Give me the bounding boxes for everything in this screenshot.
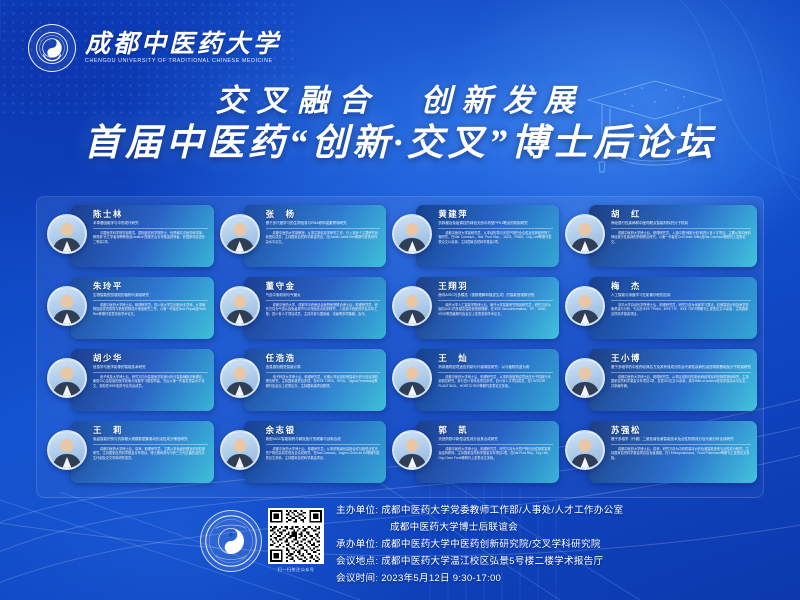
speaker-topic: 人工智能与深度学习在影像诊断的应用	[611, 293, 751, 300]
avatar	[47, 286, 87, 326]
speaker-topic: 信息学与医学影像的智能技术研究	[93, 365, 208, 372]
speaker-topic: 面向AIGC与多模态（视频理解和描述生成）的智能音视频识别	[438, 293, 553, 300]
speaker-card[interactable]: 胡 红 神经退行性疾病和中医药靶点智能材料的分子机制 成都中医药大学博士后，助理…	[561, 205, 757, 273]
speaker-name: 张 杨	[266, 210, 381, 219]
avatar	[565, 214, 605, 254]
qr-code-icon[interactable]	[268, 508, 324, 564]
qr-caption: 扫一扫关注公众号	[268, 567, 324, 573]
speaker-card[interactable]: 董守金 气血平衡机制与气管炎 成都中医药大学，成都市中西医结合医院医院联合博士后…	[216, 277, 387, 345]
avatar	[220, 214, 260, 254]
speaker-card[interactable]: 王 灿 药用植物逆境适应机制与代谢调控研究：以与植物抗逆为例 成都中医药大学博士…	[388, 349, 559, 417]
speaker-name: 梅 杰	[611, 282, 751, 291]
speaker-card[interactable]: 张 杨 基于多尺度学习的生物信息与RNA修饰富集预测研究 成都中医药大学副教授，…	[216, 205, 387, 273]
organizer-line: 承办单位: 成都中医药大学中医药创新研究院/交叉学科研究院	[336, 538, 756, 552]
speaker-bio: 中国医学科学院学部委员，国际欧亚科学院院士，世界著名中医药科学家，教育部“长江学…	[93, 231, 208, 245]
speaker-card[interactable]: 王小博 基于多组学的中医药经典名方及其有效成分防治代谢性疾病的活性物质基础及分子…	[561, 349, 757, 417]
speaker-name: 余志银	[266, 426, 381, 435]
avatar	[220, 430, 260, 470]
poster-footer: 扫一扫关注公众号 主办单位: 成都中医药大学党委教师工作部/人事处/人才工作办公…	[0, 496, 800, 600]
university-logo: 成都中医药大学 CHENGDU UNIVERSITY OF TRADITIONA…	[28, 24, 281, 72]
speaker-topic: 神经退行性疾病和中医药靶点智能材料的分子机制	[611, 221, 751, 228]
title-line-2: 首届中医药“创新·交叉”博士后论坛	[0, 124, 800, 165]
speaker-name: 董守金	[266, 282, 381, 291]
speaker-bio: 成都中医药大学副教授，从事生物信息学研究工作，已入选多个主要研究创新团队成员，主…	[266, 231, 381, 245]
speaker-bio: 成都中医药大学博士后，助理研究员，从事药物绿色智能合成与新型活性天然产物的高效发…	[266, 447, 381, 461]
avatar	[47, 430, 87, 470]
venue-line: 会议地点: 成都中医药大学温江校区弘景5号楼二楼学术报告厅	[336, 555, 756, 569]
speaker-topic: 抗肿瘤及免疫调控的绿色天然中药型PPK1靶点的机制研究	[438, 221, 553, 228]
speaker-topic: 天然药物中新型活性成分及其合成研究	[438, 437, 553, 444]
speaker-card[interactable]: 梅 杰 人工智能与深度学习在影像诊断的应用 清华大学自动化学院博士后，助理研究员…	[561, 277, 757, 345]
speaker-topic: 免疫智能识别与抗肿瘤大规模数据集驱动的活性成分筛选研究	[93, 437, 208, 444]
speaker-name: 苏强松	[611, 426, 751, 435]
speakers-panel: 陈士林 本草基因组学与中药现代研究 中国医学科学院学部委员，国际欧亚科学院院士，…	[36, 196, 764, 498]
speaker-name: 陈士林	[93, 210, 208, 219]
poster-title: 交叉融合 创新发展 首届中医药“创新·交叉”博士后论坛	[0, 84, 800, 165]
speaker-name: 郭 凯	[438, 426, 553, 435]
speaker-bio: 成都中医药大学博士后，助理研究员，四川省大学生创新创业导师，从事植物智能视觉感知…	[93, 303, 208, 317]
university-name-cn: 成都中医药大学	[85, 32, 281, 57]
speaker-name: 王小博	[611, 354, 751, 363]
speaker-name: 任浩浩	[266, 354, 381, 363]
speaker-card[interactable]: 苏强松 基于多组学（代谢）二维色谱色谱智能技术及活性物质成分及代谢分析合成研究 …	[561, 421, 757, 489]
taiji-hands-emblem-icon	[28, 24, 76, 72]
university-name-en: CHENGDU UNIVERSITY OF TRADITIONAL CHINES…	[85, 59, 281, 64]
speaker-name: 黄建萍	[438, 210, 553, 219]
speaker-name: 王 灿	[438, 354, 553, 363]
university-taiji-seal-icon	[200, 510, 262, 572]
speaker-topic: 基于多组学的中医药经典名方及其有效成分防治代谢性疾病的活性物质基础及分子机制研究	[611, 365, 751, 372]
speaker-topic: 信息感知视觉智能计算	[266, 365, 381, 372]
speaker-name: 王翔羽	[438, 282, 553, 291]
speaker-card[interactable]: 郭 凯 天然药物中新型活性成分及其合成研究 成都中医药大学博士后，助理研究员，研…	[388, 421, 559, 489]
speaker-bio: 成都中医药大学博士后，讲师，助理研究员，主要从事免疫药理及药效机制研究，主持国家…	[93, 447, 208, 461]
speaker-bio: 成都中医药大学，成都市中西医结合医院医院联合博士后，助理研究员，研究方向为气道炎…	[266, 303, 381, 317]
speaker-card[interactable]: 黄建萍 抗肿瘤及免疫调控的绿色天然中药型PPK1靶点的机制研究 成都中医药大学副…	[388, 205, 559, 273]
speaker-name: 王 莉	[93, 426, 208, 435]
speakers-grid: 陈士林 本草基因组学与中药现代研究 中国医学科学院学部委员，国际欧亚科学院院士，…	[43, 205, 757, 489]
speaker-card[interactable]: 任浩浩 信息感知视觉智能计算 电子科技大学博士后，助理研究员，长期从事遥感影像智…	[216, 349, 387, 417]
speaker-bio: 成都中医药大学博士后，助理研究员，从事区域药材的新品种培育及药效物质基础研究，主…	[611, 375, 751, 389]
speaker-card[interactable]: 朱玲平 生物智能视觉感知的植物代谢组研究 成都中医药大学博士后，助理研究员，四川…	[43, 277, 214, 345]
speaker-bio: 电子科技大学博士后，研究方向为智能医学影像分析与智能辅助诊断理论，聚焦中心及智能…	[93, 375, 208, 389]
speaker-topic: 生物智能视觉感知的植物代谢组研究	[93, 293, 208, 300]
speaker-topic: 新型AIGC智能制药与精准医疗的健康与创新合成	[266, 437, 381, 444]
speaker-card[interactable]: 胡少华 信息学与医学影像的智能技术研究 电子科技大学博士后，研究方向为智能医学影…	[43, 349, 214, 417]
avatar	[565, 286, 605, 326]
speaker-name: 胡 红	[611, 210, 751, 219]
avatar	[220, 286, 260, 326]
avatar	[47, 358, 87, 398]
datetime-line: 会议时间: 2023年5月12日 9:30-17:00	[336, 572, 756, 586]
avatar	[220, 358, 260, 398]
speaker-bio: 成都中医药大学博士后，助理研究员，研究方向为天然产物的活性物质发现及结构修饰，主…	[438, 447, 553, 461]
speaker-name: 朱玲平	[93, 282, 208, 291]
organizer-info: 主办单位: 成都中医药大学党委教师工作部/人事处/人才工作办公室 成都中医药大学…	[336, 504, 756, 589]
organizer-line: 主办单位: 成都中医药大学党委教师工作部/人事处/人才工作办公室	[336, 504, 756, 518]
qr-code-block[interactable]: 扫一扫关注公众号	[268, 508, 324, 573]
speaker-name: 胡少华	[93, 354, 208, 363]
conference-poster: 成都中医药大学 CHENGDU UNIVERSITY OF TRADITIONA…	[0, 0, 800, 600]
speaker-topic: 气血平衡机制与气管炎	[266, 293, 381, 300]
speaker-card[interactable]: 王 莉 免疫智能识别与抗肿瘤大规模数据集驱动的活性成分筛选研究 成都中医药大学博…	[43, 421, 214, 489]
speaker-bio: 成都中医药大学博士后，助理研究员，入选中国“博新计划”和四川省人才项目，主要从事…	[611, 231, 751, 245]
organizer-line: 成都中医药大学博士后联谊会	[336, 521, 756, 535]
speaker-card[interactable]: 陈士林 本草基因组学与中药现代研究 中国医学科学院学部委员，国际欧亚科学院院士，…	[43, 205, 214, 273]
speaker-bio: 成都中医药大学副研究员，从事结构导向天然产物的全合成及抗肿瘤药物工程研究，在Na…	[438, 231, 553, 245]
speaker-card[interactable]: 王翔羽 面向AIGC与多模态（视频理解和描述生成）的智能音视频识别 南开大学人工…	[388, 277, 559, 345]
speaker-bio: 成都中医药大学博士后，助理研究员，从事药用植物逆境适应分子机制与代谢调控研究，参…	[438, 375, 553, 389]
speaker-bio: 清华大学自动化学院博士后，助理研究员，研究方向为深度学习算法、影像智能分析及医学…	[611, 303, 751, 317]
speaker-topic: 基于多尺度学习的生物信息与RNA修饰富集预测研究	[266, 221, 381, 228]
speaker-card[interactable]: 余志银 新型AIGC智能制药与精准医疗的健康与创新合成 成都中医药大学博士后，助…	[216, 421, 387, 489]
speaker-bio: 南开大学人工智能学院博士后，南开大学智能研究院副研究员，研究方向为面向AIGC的…	[438, 303, 553, 317]
avatar	[565, 430, 605, 470]
speaker-topic: 基于多组学（代谢）二维色谱色谱智能技术及活性物质成分及代谢分析合成研究	[611, 437, 751, 444]
speaker-topic: 药用植物逆境适应机制与代谢调控研究：以与植物抗逆为例	[438, 365, 553, 372]
speaker-bio: 电子科技大学博士后，助理研究员，长期从事遥感影像智能分析与信息感知理论研究，主持…	[266, 375, 381, 389]
avatar	[47, 214, 87, 254]
title-line-1: 交叉融合 创新发展	[0, 84, 800, 118]
avatar	[565, 358, 605, 398]
speaker-bio: 成都中医药大学博士后，讲师，研究方向为中药质量评价的色谱智能鉴别与活性成分研究，…	[611, 447, 751, 461]
speaker-topic: 本草基因组学与中药现代研究	[93, 221, 208, 228]
